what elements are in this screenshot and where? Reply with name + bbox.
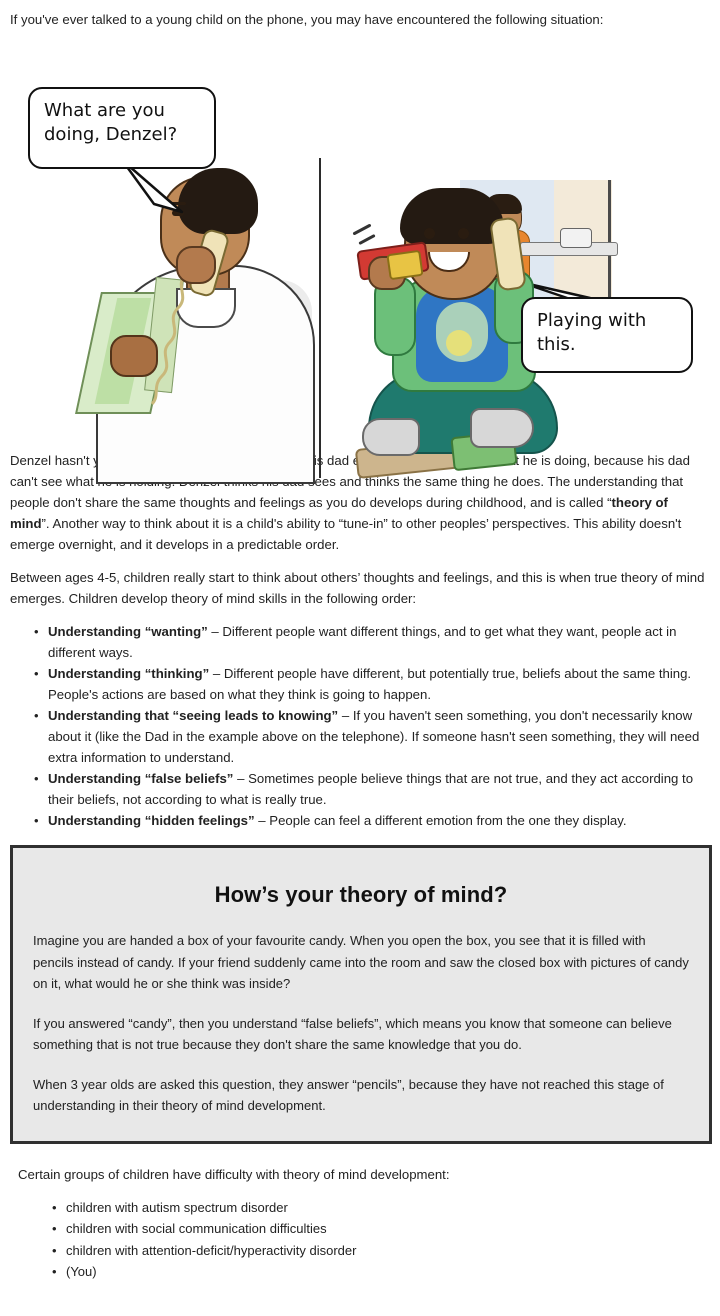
list-item: Understanding “thinking” – Different peo… bbox=[34, 663, 706, 705]
motion-line-upper bbox=[352, 223, 371, 235]
panel-divider bbox=[319, 158, 321, 478]
list-item: children with attention-deficit/hyperact… bbox=[52, 1240, 706, 1262]
speech-bubble-father: What are you doing, Denzel? bbox=[28, 87, 216, 169]
footer-spacer bbox=[0, 1144, 720, 1164]
body-paragraph-ages: Between ages 4-5, children really start … bbox=[0, 567, 720, 609]
callout-paragraph-answer: If you answered “candy”, then you unders… bbox=[33, 1013, 689, 1056]
footer-list-spacer bbox=[0, 1185, 720, 1197]
list-item: Understanding “hidden feelings” – People… bbox=[34, 810, 706, 831]
footer-intro-paragraph: Certain groups of children have difficul… bbox=[0, 1164, 720, 1185]
list-item: (You) bbox=[52, 1261, 706, 1283]
speech-bubble-boy: Playing with this. bbox=[521, 297, 693, 373]
document-page: If you've ever talked to a young child o… bbox=[0, 0, 720, 1316]
callout-box: How’s your theory of mind? Imagine you a… bbox=[10, 845, 712, 1144]
father-hand-holding-handset bbox=[176, 246, 216, 284]
father-hand-lower bbox=[110, 335, 158, 377]
boy-shoe-right bbox=[470, 408, 534, 448]
boy-shoe-left bbox=[362, 418, 420, 456]
difficulty-groups-list: children with autism spectrum disorder c… bbox=[0, 1197, 720, 1283]
toy-train-yellow bbox=[386, 250, 423, 280]
callout-paragraph-scenario: Imagine you are handed a box of your fav… bbox=[33, 930, 689, 995]
motion-line-lower bbox=[358, 234, 375, 245]
boy-hair bbox=[400, 188, 504, 244]
callout-paragraph-three-year-olds: When 3 year olds are asked this question… bbox=[33, 1074, 689, 1117]
list-item-rest: – People can feel a different emotion fr… bbox=[255, 813, 627, 828]
background-telephone-base bbox=[560, 228, 592, 248]
boy-eye-right bbox=[458, 228, 469, 239]
list-item: children with social communication diffi… bbox=[52, 1218, 706, 1240]
list-spacer bbox=[0, 609, 720, 621]
list-item-lead: Understanding “false beliefs” bbox=[48, 771, 233, 786]
list-item: Understanding that “seeing leads to know… bbox=[34, 705, 706, 768]
boy-eye-left bbox=[424, 228, 435, 239]
theory-of-mind-skills-list: Understanding “wanting” – Different peop… bbox=[0, 621, 720, 831]
list-item-lead: Understanding “thinking” bbox=[48, 666, 209, 681]
list-item-lead: Understanding that “seeing leads to know… bbox=[48, 708, 338, 723]
list-item: Understanding “false beliefs” – Sometime… bbox=[34, 768, 706, 810]
list-item: Understanding “wanting” – Different peop… bbox=[34, 621, 706, 663]
intro-paragraph: If you've ever talked to a young child o… bbox=[0, 0, 720, 30]
list-item-lead: Understanding “hidden feelings” bbox=[48, 813, 255, 828]
paragraph-spacer bbox=[0, 555, 720, 567]
list-item: children with autism spectrum disorder bbox=[52, 1197, 706, 1219]
boy-shirt-graphic-accent bbox=[446, 330, 472, 356]
speech-bubble-father-text: What are you doing, Denzel? bbox=[44, 100, 177, 145]
body-paragraph-denzel-part2: ”. Another way to think about it is a ch… bbox=[10, 516, 681, 552]
speech-bubble-boy-text: Playing with this. bbox=[537, 310, 646, 355]
list-item-lead: Understanding “wanting” bbox=[48, 624, 208, 639]
comic-illustration: What are you doing, Denzel? bbox=[0, 30, 720, 450]
callout-heading: How’s your theory of mind? bbox=[33, 882, 689, 908]
